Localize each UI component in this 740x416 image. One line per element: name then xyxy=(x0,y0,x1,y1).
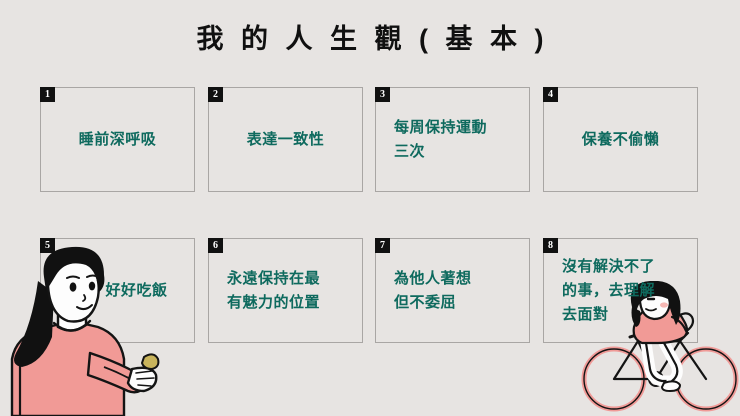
card-text-5: 好好吃飯 xyxy=(51,279,184,303)
card-number-badge-1: 1 xyxy=(40,87,55,102)
card-number-badge-8: 8 xyxy=(543,238,558,253)
card-text-line: 的事，去理解 xyxy=(562,279,689,303)
card-3[interactable]: 3 每周保持運動 三次 xyxy=(375,87,530,192)
card-text-line: 為他人著想 xyxy=(394,267,521,291)
card-text-line: 有魅力的位置 xyxy=(227,291,354,315)
card-text-7: 為他人著想 但不委屈 xyxy=(394,267,521,315)
page-title: 我 的 人 生 觀 ( 基 本 ) xyxy=(0,22,740,56)
card-text-line: 沒有解決不了 xyxy=(562,255,689,279)
card-text-line: 三次 xyxy=(394,140,521,164)
card-number-badge-4: 4 xyxy=(543,87,558,102)
card-7[interactable]: 7 為他人著想 但不委屈 xyxy=(375,238,530,343)
card-text-line: 但不委屈 xyxy=(394,291,521,315)
card-text-2: 表達一致性 xyxy=(219,128,352,152)
card-text-line: 好好吃飯 xyxy=(89,279,184,303)
card-5[interactable]: 5 好好吃飯 xyxy=(40,238,195,343)
card-text-line: 保養不偷懶 xyxy=(554,128,687,152)
card-text-line: 每周保持運動 xyxy=(394,116,521,140)
card-text-line: 去面對 xyxy=(562,303,689,327)
card-text-8: 沒有解決不了 的事，去理解 去面對 xyxy=(562,255,689,327)
card-6[interactable]: 6 永遠保持在最 有魅力的位置 xyxy=(208,238,363,343)
card-text-4: 保養不偷懶 xyxy=(554,128,687,152)
card-number-badge-5: 5 xyxy=(40,238,55,253)
card-text-3: 每周保持運動 三次 xyxy=(394,116,521,164)
card-text-line: 表達一致性 xyxy=(219,128,352,152)
card-text-line: 永遠保持在最 xyxy=(227,267,354,291)
card-4[interactable]: 4 保養不偷懶 xyxy=(543,87,698,192)
card-text-line: 睡前深呼吸 xyxy=(51,128,184,152)
card-8[interactable]: 8 沒有解決不了 的事，去理解 去面對 xyxy=(543,238,698,343)
card-text-1: 睡前深呼吸 xyxy=(51,128,184,152)
card-number-badge-6: 6 xyxy=(208,238,223,253)
card-text-6: 永遠保持在最 有魅力的位置 xyxy=(227,267,354,315)
card-number-badge-7: 7 xyxy=(375,238,390,253)
card-number-badge-2: 2 xyxy=(208,87,223,102)
slide-canvas: 我 的 人 生 觀 ( 基 本 ) 1 睡前深呼吸 2 表達一致性 3 每周保持… xyxy=(0,0,740,416)
card-2[interactable]: 2 表達一致性 xyxy=(208,87,363,192)
card-1[interactable]: 1 睡前深呼吸 xyxy=(40,87,195,192)
card-number-badge-3: 3 xyxy=(375,87,390,102)
